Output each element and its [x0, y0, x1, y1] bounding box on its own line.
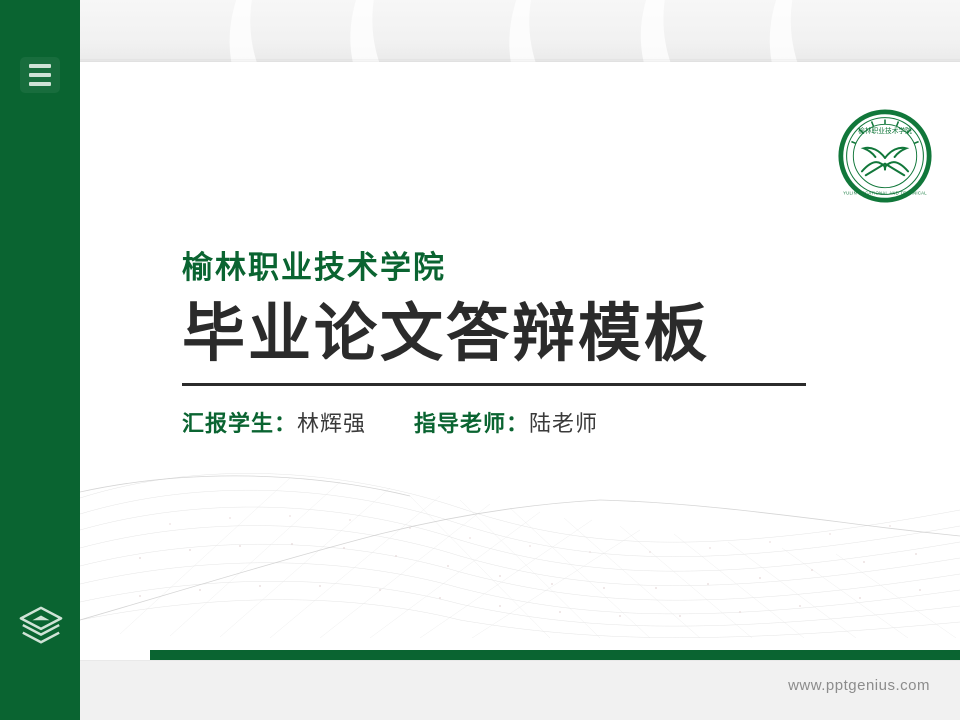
- layers-stack-icon[interactable]: [18, 604, 64, 648]
- university-emblem-logo: 榆林职业技术学院 YULIN VOCATIONAL AND TECHNICAL: [837, 108, 933, 204]
- title-divider: [182, 383, 806, 386]
- hamburger-menu-icon[interactable]: [20, 57, 60, 93]
- menu-bar-2: [29, 73, 51, 77]
- meta-student: 汇报学生：林辉强: [182, 410, 366, 439]
- page-title: 毕业论文答辩模板: [182, 298, 882, 371]
- meta-advisor-label: 指导老师：: [414, 411, 529, 436]
- meta-student-value: 林辉强: [297, 411, 366, 436]
- meta-row: 汇报学生：林辉强 指导老师：陆老师: [182, 410, 882, 439]
- school-name: 榆林职业技术学院: [182, 249, 882, 288]
- site-url-label: www.pptgenius.com: [788, 677, 930, 694]
- svg-text:YULIN VOCATIONAL AND TECHNICAL: YULIN VOCATIONAL AND TECHNICAL: [843, 190, 927, 195]
- meta-student-label: 汇报学生：: [182, 411, 297, 436]
- presentation-viewer: www.pptgenius.com: [0, 0, 960, 720]
- menu-bar-3: [29, 82, 51, 86]
- top-decorative-band: [0, 0, 960, 62]
- svg-text:榆林职业技术学院: 榆林职业技术学院: [858, 126, 912, 135]
- slide-footer-bar: [150, 650, 960, 660]
- title-block: 榆林职业技术学院 毕业论文答辩模板 汇报学生：林辉强 指导老师：陆老师: [182, 249, 882, 438]
- meta-advisor: 指导老师：陆老师: [414, 410, 598, 439]
- meta-advisor-value: 陆老师: [529, 411, 598, 436]
- menu-bar-1: [29, 64, 51, 68]
- mesh-wave-decoration: [80, 438, 960, 638]
- left-sidebar: [0, 0, 80, 720]
- slide-canvas[interactable]: 榆林职业技术学院 YULIN VOCATIONAL AND TECHNICAL …: [80, 62, 960, 660]
